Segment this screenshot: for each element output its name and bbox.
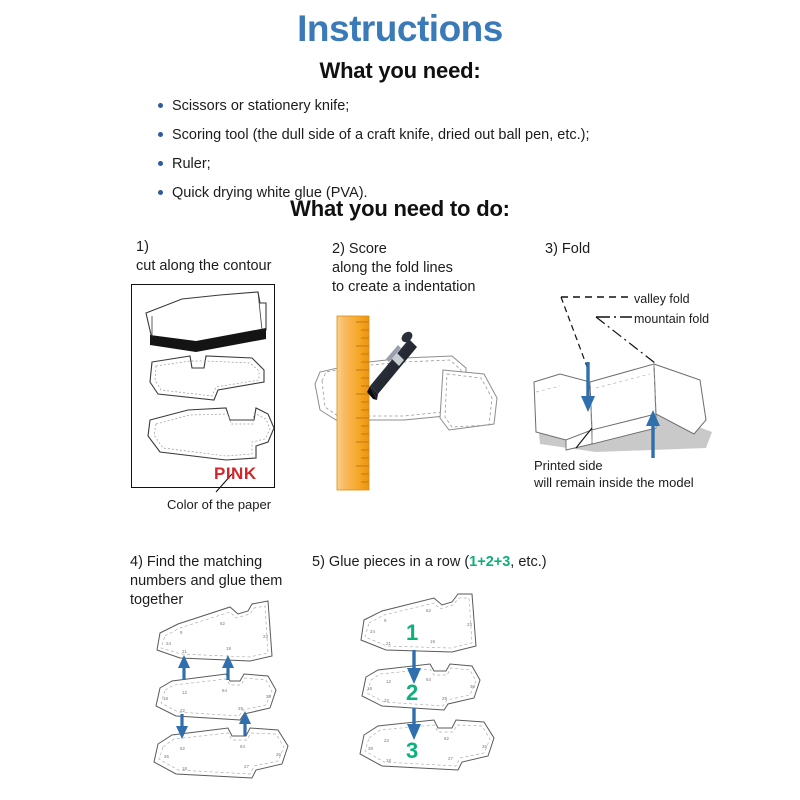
svg-text:29: 29	[442, 696, 447, 701]
svg-text:18: 18	[386, 758, 391, 763]
svg-text:26: 26	[482, 744, 487, 749]
step5-piece-3	[360, 720, 494, 770]
svg-text:38: 38	[368, 746, 373, 751]
step5-piece-2	[362, 664, 480, 710]
svg-text:64: 64	[426, 677, 431, 682]
svg-text:22: 22	[384, 698, 389, 703]
step5-label-2: 2	[406, 680, 418, 705]
step5-label-3: 3	[406, 738, 418, 763]
svg-text:22: 22	[384, 738, 389, 743]
svg-text:30: 30	[470, 684, 475, 689]
step5-piece-1	[361, 594, 476, 652]
step5-piece-labels: 1 2 3	[406, 620, 418, 763]
svg-text:62: 62	[444, 736, 449, 741]
step5-label-1: 1	[406, 620, 418, 645]
svg-text:19: 19	[430, 639, 435, 644]
svg-text:21: 21	[386, 641, 391, 646]
svg-text:18: 18	[367, 686, 372, 691]
instruction-sheet: Instructions What you need: What you nee…	[0, 0, 800, 800]
svg-text:62: 62	[426, 608, 431, 613]
svg-text:23: 23	[467, 622, 472, 627]
svg-text:24: 24	[370, 629, 375, 634]
svg-text:27: 27	[448, 756, 453, 761]
svg-text:12: 12	[386, 679, 391, 684]
step-5-illustration: 1 2 3 962 2324 2119 1264 1830 2229 2262 …	[0, 0, 800, 800]
